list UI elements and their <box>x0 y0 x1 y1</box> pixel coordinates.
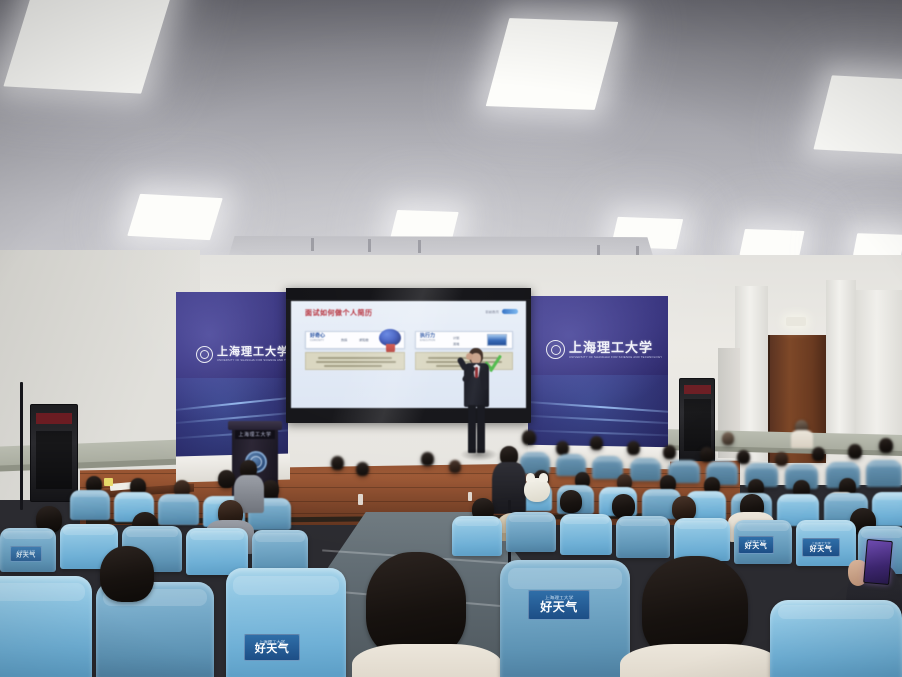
card-label-b: 落地 <box>453 341 459 346</box>
seat-logo-patch: 上海理工大学 好天气 <box>10 546 42 562</box>
university-logo: 上海理工大学 UNIVERSITY OF SHANGHAI FOR SCIENC… <box>546 340 662 359</box>
slide-card-right-heading: 执行力 EXECUTION <box>420 334 435 343</box>
card-label-a: 热情 <box>341 337 347 342</box>
university-name-cn: 上海理工大学 <box>569 341 662 354</box>
slide-card-left-heading: 好奇心 CURIOSITY <box>310 334 325 343</box>
card-heading-en: CURIOSITY <box>310 340 324 342</box>
presenter-hand <box>466 353 473 360</box>
slide-brand-text: 职前教育 <box>485 309 499 314</box>
lecture-hall-photo: 上海理工大学 UNIVERSITY OF SHANGHAI FOR SCIENC… <box>0 0 902 677</box>
patch-top-text: 上海理工大学 <box>811 543 830 546</box>
university-emblem-icon <box>196 346 213 363</box>
speaker-band <box>684 385 711 394</box>
seat-logo-patch: 上海理工大学 好天气 <box>244 634 300 661</box>
patch-main-text: 好天气 <box>16 553 36 559</box>
card-heading-en: EXECUTION <box>420 340 435 342</box>
university-name-en: UNIVERSITY OF SHANGHAI FOR SCIENCE AND T… <box>217 360 288 362</box>
wall-pilaster <box>826 280 856 448</box>
patch-main-text: 好天气 <box>810 546 833 553</box>
card-heading-cn: 好奇心 <box>310 334 325 339</box>
slide-title: 面试如何做个人简历 <box>305 308 373 318</box>
university-logo: 上海理工大学 UNIVERSITY OF SHANGHAI FOR SCIENC… <box>196 346 288 363</box>
loudspeaker-cabinet-left <box>30 404 78 502</box>
seat-logo-patch: 上海理工大学 好天气 <box>738 536 774 554</box>
university-emblem-icon <box>546 340 565 359</box>
speaker-grill <box>684 399 711 451</box>
phone-screen <box>864 540 892 584</box>
smartphone <box>863 539 893 585</box>
coat <box>352 644 502 677</box>
water-bottle <box>468 492 472 501</box>
patch-top-text: 上海理工大学 <box>746 540 765 543</box>
coat <box>620 644 780 677</box>
presenter-tie <box>475 367 478 378</box>
card-heading-cn: 执行力 <box>420 334 435 339</box>
patch-top-text: 上海理工大学 <box>259 640 285 644</box>
card-label-b: 求知欲 <box>359 337 369 342</box>
podium-top-surface <box>228 421 282 430</box>
patch-main-text: 好天气 <box>540 601 578 613</box>
speaker-grill <box>36 431 72 489</box>
slide-brand: 职前教育 <box>485 309 518 314</box>
university-name-en: UNIVERSITY OF SHANGHAI FOR SCIENCE AND T… <box>569 356 662 358</box>
screen-top-bar <box>286 288 531 299</box>
water-bottle <box>358 494 363 505</box>
door-overhead-light <box>786 317 806 326</box>
presenter <box>458 348 498 460</box>
patch-top-text: 上海理工大学 <box>545 597 574 601</box>
ceiling-light-panel <box>739 229 804 257</box>
presenter-leg <box>477 405 485 453</box>
patch-top-text: 上海理工大学 <box>17 550 35 552</box>
slide-note-left <box>305 352 405 370</box>
podium-nameplate: 上海理工大学 <box>235 430 275 439</box>
presenter-leg <box>468 405 476 453</box>
soffit-fin <box>368 239 371 252</box>
foreground-person <box>620 556 780 677</box>
banner-right: 上海理工大学 UNIVERSITY OF SHANGHAI FOR SCIENC… <box>528 296 668 454</box>
patch-main-text: 好天气 <box>745 543 768 550</box>
patch-main-text: 好天气 <box>255 644 290 655</box>
document-icon <box>487 334 507 346</box>
card-label-a: 计划 <box>453 335 459 340</box>
soffit-fin <box>311 238 314 251</box>
slide-brand-bar <box>502 309 518 314</box>
seat-logo-patch: 上海理工大学 好天气 <box>528 590 590 620</box>
plush-ear <box>526 473 535 483</box>
ceiling-light-panel <box>127 194 222 240</box>
yellow-cup <box>104 478 113 486</box>
head <box>366 552 466 658</box>
cat-plush-toy <box>524 478 550 502</box>
speaker-stand-left <box>20 382 23 510</box>
wall-pilaster <box>856 290 902 450</box>
university-name-cn: 上海理工大学 <box>217 347 288 358</box>
soffit-fin <box>418 240 421 253</box>
speaker-band <box>36 413 72 424</box>
ceiling-light-panel <box>853 233 902 257</box>
podium-nameplate-text: 上海理工大学 <box>238 431 271 438</box>
plush-ear <box>539 473 548 483</box>
foreground-person <box>352 552 502 677</box>
